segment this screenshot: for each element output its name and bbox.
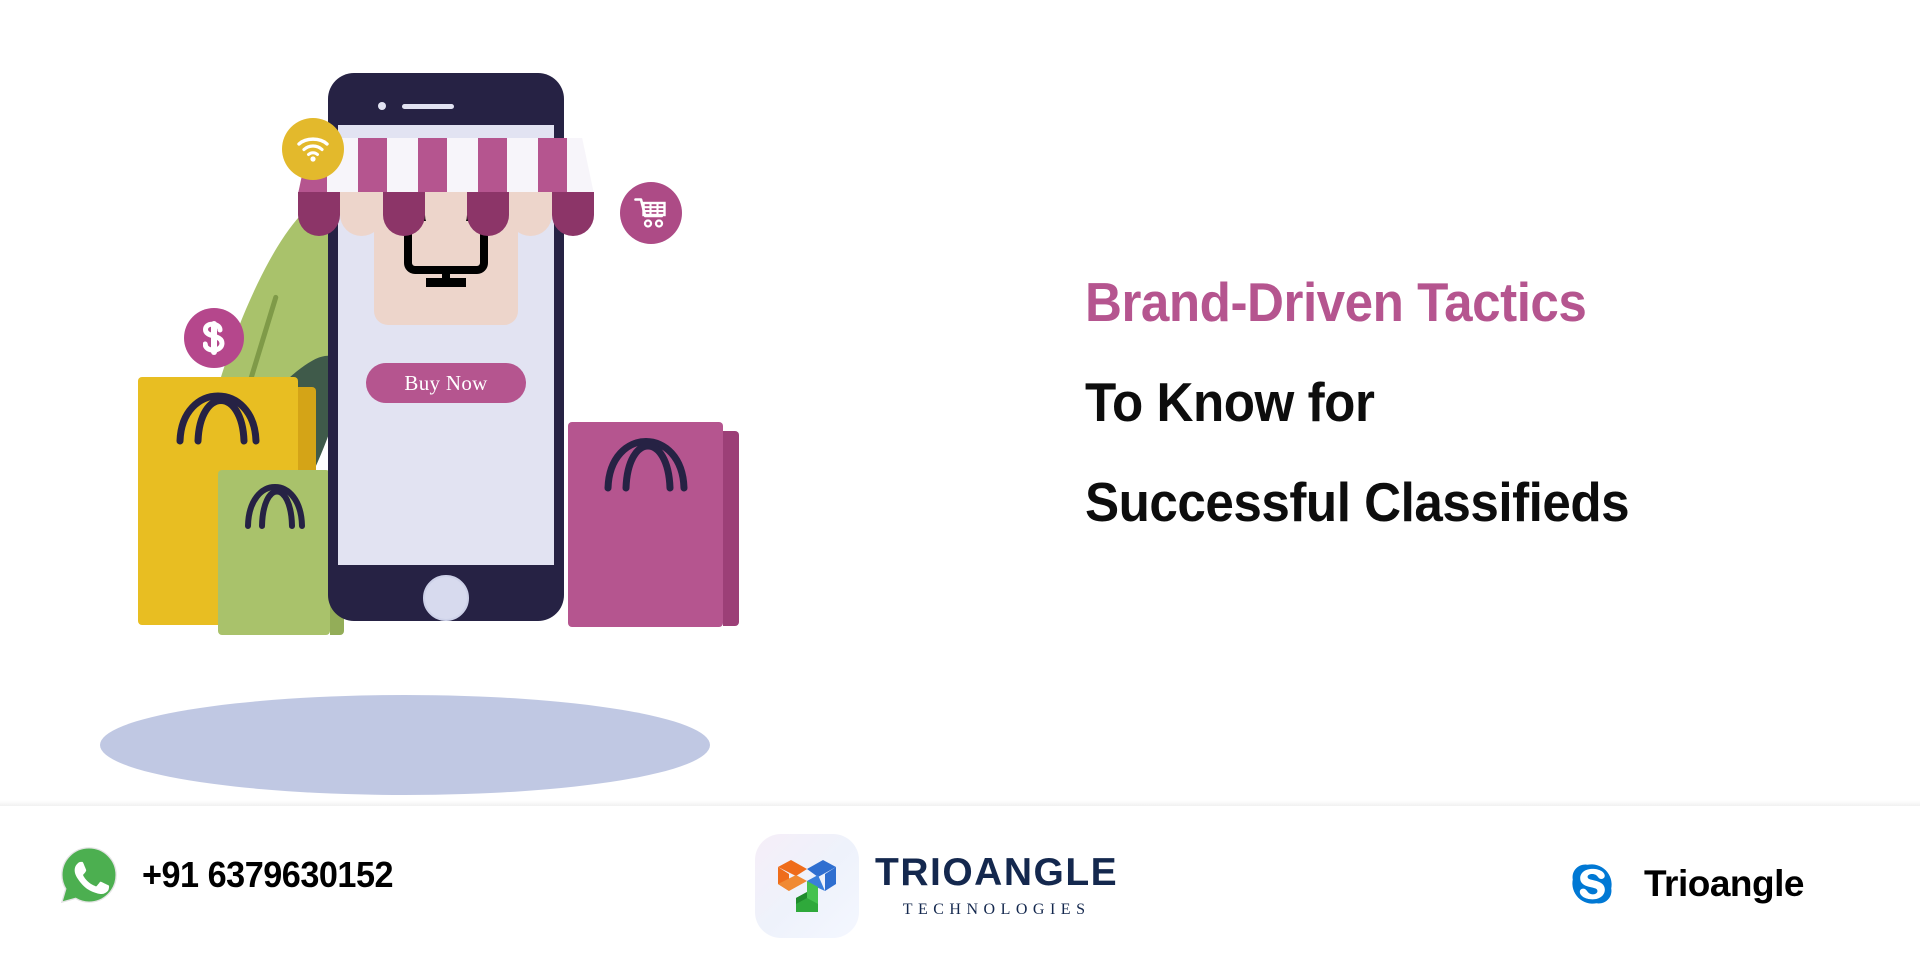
contact-footer: +91 6379630152 TRIOANGLE TECHNOLOGIES	[0, 806, 1920, 978]
headline-line-2: To Know for	[1085, 352, 1792, 452]
hero-banner: Buy & Sell Buy Now	[0, 0, 1920, 806]
headline-line-3: Successful Classifieds	[1085, 452, 1792, 552]
skype-username: Trioangle	[1644, 863, 1804, 905]
whatsapp-contact[interactable]: +91 6379630152	[58, 844, 406, 906]
headline-line-1: Brand-Driven Tactics	[1085, 252, 1792, 352]
headline-block: Brand-Driven Tactics To Know for Success…	[1085, 252, 1845, 552]
awning-scallops	[298, 192, 594, 236]
skype-contact[interactable]: Trioangle	[1562, 854, 1804, 914]
phone-home-button[interactable]	[423, 575, 469, 621]
awning-scallop	[552, 192, 594, 236]
whatsapp-phone-number: +91 6379630152	[142, 854, 393, 896]
dollar-icon	[203, 321, 225, 355]
phone-speaker-bar	[402, 104, 454, 109]
phone-camera-dot	[378, 102, 386, 110]
wifi-badge	[282, 118, 344, 180]
pink-shopping-bag	[568, 412, 743, 627]
awning-scallop	[509, 192, 551, 236]
awning-scallop	[425, 192, 467, 236]
ground-shadow	[100, 695, 710, 795]
awning-scallop	[340, 192, 382, 236]
awning-scallop	[467, 192, 509, 236]
trioangle-triangle-logo-icon	[774, 855, 840, 917]
buy-now-button[interactable]: Buy Now	[366, 363, 526, 403]
brand-name: TRIOANGLE	[875, 853, 1118, 892]
skype-icon	[1562, 854, 1622, 914]
wifi-icon	[297, 136, 329, 162]
cart-badge	[620, 182, 682, 244]
awning-scallop	[298, 192, 340, 236]
ecommerce-illustration: Buy & Sell Buy Now	[60, 40, 920, 780]
brand-logo-block: TRIOANGLE TECHNOLOGIES	[755, 834, 1118, 938]
shopping-cart-icon	[634, 197, 668, 229]
awning-scallop	[383, 192, 425, 236]
yellow-bag-handle-icon	[138, 365, 318, 445]
whatsapp-icon	[58, 844, 120, 906]
brand-logo-mark	[755, 834, 859, 938]
dollar-badge	[184, 308, 244, 368]
brand-tagline: TECHNOLOGIES	[875, 901, 1118, 919]
pink-bag-handle-icon	[568, 412, 743, 492]
brand-wordmark: TRIOANGLE TECHNOLOGIES	[875, 853, 1118, 919]
